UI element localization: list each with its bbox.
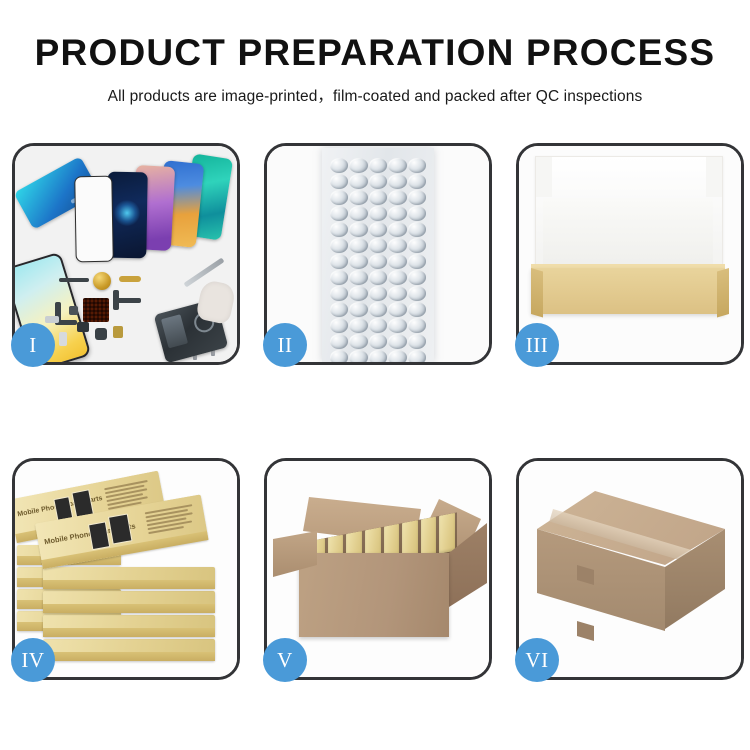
- bubble: [369, 270, 387, 285]
- step-badge-2: II: [263, 323, 307, 367]
- bubble: [349, 302, 367, 317]
- bubble: [369, 286, 387, 301]
- bubble: [330, 238, 348, 253]
- bubble: [330, 206, 348, 221]
- box-edge: [43, 628, 215, 637]
- bubble: [408, 238, 426, 253]
- bubble: [408, 334, 426, 349]
- vibration-motor-icon: [93, 272, 111, 290]
- screen-protector-glass: [74, 176, 113, 263]
- bubble: [388, 254, 406, 269]
- page-header: PRODUCT PREPARATION PROCESS All products…: [0, 0, 750, 106]
- bubble: [388, 350, 406, 362]
- bubble: [349, 158, 367, 173]
- bubble: [369, 302, 387, 317]
- bubble: [330, 158, 348, 173]
- flex-cable-1: [59, 278, 89, 282]
- lid-flap-right: [706, 157, 722, 197]
- box-edge: [43, 652, 215, 661]
- bubble: [330, 254, 348, 269]
- bubble: [408, 254, 426, 269]
- bubble: [388, 222, 406, 237]
- step-panel-5: V: [264, 458, 492, 680]
- step-badge-1: I: [11, 323, 55, 367]
- page-subtitle: All products are image-printed，film-coat…: [0, 84, 750, 106]
- step-badge-3: III: [515, 323, 559, 367]
- bubble: [330, 190, 348, 205]
- bubble-wrap-pouch: [322, 148, 434, 362]
- bubble: [369, 350, 387, 362]
- connector-part-3: [95, 328, 107, 340]
- bubble: [330, 302, 348, 317]
- bubble: [330, 270, 348, 285]
- carton-front: [299, 553, 449, 637]
- bubble: [349, 222, 367, 237]
- bubble: [349, 334, 367, 349]
- bubble: [349, 190, 367, 205]
- kraft-tray-right: [717, 268, 729, 317]
- bubble: [388, 158, 406, 173]
- bubble: [408, 222, 426, 237]
- step-panel-3: III: [516, 143, 744, 365]
- phone-lineup: [33, 154, 233, 274]
- page-title: PRODUCT PREPARATION PROCESS: [0, 34, 750, 73]
- bubble: [408, 190, 426, 205]
- bubble: [369, 254, 387, 269]
- bubble: [349, 270, 367, 285]
- lid-inner-panel: [543, 198, 713, 270]
- bubble: [408, 206, 426, 221]
- bubble: [330, 334, 348, 349]
- connector-part-2: [77, 322, 89, 332]
- stacked-box-front-5: [43, 639, 215, 661]
- box-edge: [43, 580, 215, 589]
- bubble: [369, 174, 387, 189]
- bubble: [349, 174, 367, 189]
- bubble: [349, 318, 367, 333]
- step-badge-5: V: [263, 638, 307, 682]
- bubble: [408, 158, 426, 173]
- bubble: [408, 270, 426, 285]
- step-panel-4: Mobile Phone Spare Parts: [12, 458, 240, 680]
- connector-part-4: [113, 326, 123, 338]
- kraft-tray-front: [531, 268, 725, 314]
- connector-part-6: [45, 316, 59, 323]
- product-preparation-infographic: PRODUCT PREPARATION PROCESS All products…: [0, 0, 750, 750]
- bubble: [388, 318, 406, 333]
- bubble: [408, 318, 426, 333]
- bubble: [349, 238, 367, 253]
- step-panel-2: II: [264, 143, 492, 365]
- stacked-box-front-2: [43, 567, 215, 589]
- bubble: [330, 318, 348, 333]
- bubble: [369, 222, 387, 237]
- bga-chip-icon: [83, 298, 109, 322]
- lid-flap-left: [536, 157, 552, 197]
- step-badge-4: IV: [11, 638, 55, 682]
- bubble: [369, 238, 387, 253]
- box-edge: [43, 604, 215, 613]
- bubble: [388, 334, 406, 349]
- bubble: [388, 174, 406, 189]
- bubble: [369, 206, 387, 221]
- connector-part-5: [59, 332, 67, 346]
- bubble: [349, 206, 367, 221]
- bubble: [349, 350, 367, 362]
- bubble: [349, 254, 367, 269]
- stacked-box-front-3: [43, 591, 215, 613]
- bubble: [349, 286, 367, 301]
- bubble: [388, 238, 406, 253]
- bubble: [330, 174, 348, 189]
- bubble: [330, 350, 348, 362]
- stacked-box-front-4: [43, 615, 215, 637]
- flex-cable-4: [115, 298, 141, 303]
- bubble: [330, 286, 348, 301]
- bubble: [388, 206, 406, 221]
- carton-box-item: [439, 513, 455, 554]
- bubble: [408, 174, 426, 189]
- bubble: [388, 190, 406, 205]
- bubble: [330, 222, 348, 237]
- flex-cable-2: [119, 276, 141, 282]
- bubble: [408, 350, 426, 362]
- step-panel-1: I: [12, 143, 240, 365]
- bubble: [369, 318, 387, 333]
- steps-grid: I II: [12, 143, 740, 680]
- bubble: [369, 334, 387, 349]
- bubble: [388, 286, 406, 301]
- kraft-tray-left: [531, 268, 543, 317]
- step-panel-6: VI: [516, 458, 744, 680]
- step-badge-6: VI: [515, 638, 559, 682]
- carton-box-item: [421, 516, 437, 557]
- connector-part-1: [69, 306, 78, 315]
- bubble: [408, 302, 426, 317]
- bubble: [388, 270, 406, 285]
- bubble: [369, 190, 387, 205]
- bubble: [369, 158, 387, 173]
- bubble: [408, 286, 426, 301]
- bubble: [388, 302, 406, 317]
- bubble-grid: [330, 158, 426, 358]
